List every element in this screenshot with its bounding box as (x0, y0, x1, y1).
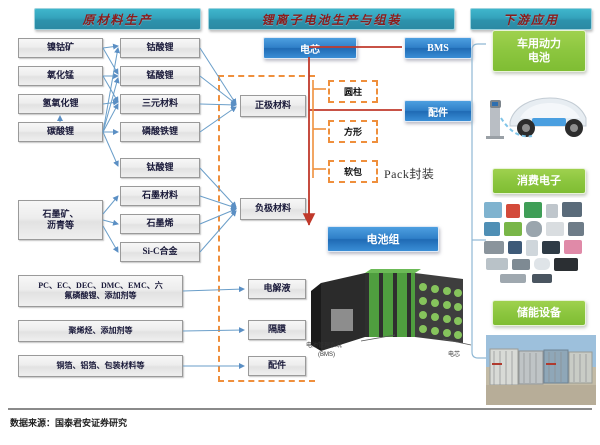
consumer-electronics-photo (480, 198, 598, 286)
box-label: 镍钴矿 (47, 42, 74, 53)
footer-divider (8, 408, 592, 410)
box-label: 车用动力 电池 (517, 37, 561, 66)
cell-format-box-cylindrical: 圆柱 (328, 80, 378, 103)
application-box-energy-storage: 储能设备 (492, 300, 586, 326)
pack-assembly-label: Pack封装 (384, 165, 434, 182)
diagram-canvas: 原材料生产 锂离子电池生产与组装 下游应用 镍钴矿 氧化锰 氢氧化锂 碳酸锂 石… (0, 0, 600, 445)
section-banner-cell-production: 锂离子电池生产与组装 (208, 8, 455, 30)
material-box-lithium-titanate: 钛酸锂 (120, 158, 200, 178)
material-box-si-c-alloy: Si-C合金 (120, 242, 200, 262)
box-label: 方形 (344, 125, 362, 138)
box-label: 石墨材料 (142, 190, 178, 201)
cell-format-box-prismatic: 方形 (328, 120, 378, 143)
box-label: 氢氧化锂 (42, 98, 78, 109)
process-box-accessories: 配件 (404, 100, 472, 122)
box-label: 储能设备 (517, 306, 561, 320)
box-label: 负极材料 (255, 203, 291, 214)
box-label: 电池组 (367, 231, 400, 247)
material-box-lithium-hydroxide: 氢氧化锂 (18, 94, 103, 114)
material-box-lithium-cobalt-oxide: 钴酸锂 (120, 38, 200, 58)
material-box-electrolyte-chemicals: PC、EC、DEC、DMC、EMC、六 氟磷酸锂、添加剂等 (18, 275, 183, 307)
box-label: 配件 (428, 104, 448, 119)
material-box-lithium-carbonate: 碳酸锂 (18, 122, 103, 142)
material-box-foil-packaging: 铜箔、铝箔、包装材料等 (18, 355, 183, 377)
cell-format-box-pouch: 软包 (328, 160, 378, 183)
material-box-graphene: 石墨烯 (120, 214, 200, 234)
box-label: 正极材料 (255, 100, 291, 111)
banner-label: 下游应用 (503, 11, 559, 28)
box-label: BMS (427, 43, 449, 54)
box-label: 锰酸锂 (146, 70, 173, 81)
box-label: 电芯 (300, 41, 320, 56)
component-box-separator: 隔膜 (248, 320, 306, 340)
material-box-lithium-manganate: 锰酸锂 (120, 66, 200, 86)
box-label: 磷酸铁锂 (142, 126, 178, 137)
component-box-electrolyte: 电解液 (248, 279, 306, 299)
source-note: 数据来源：国泰君安证券研究 (10, 416, 127, 429)
box-label: 石墨烯 (146, 218, 173, 229)
box-label: 软包 (344, 165, 362, 178)
energy-storage-photo (486, 335, 596, 405)
material-box-nickel-cobalt-ore: 镍钴矿 (18, 38, 103, 58)
material-box-graphite-material: 石墨材料 (120, 186, 200, 206)
process-box-cell: 电芯 (263, 37, 357, 59)
banner-label: 原材料生产 (82, 11, 152, 28)
process-box-bms: BMS (404, 37, 472, 59)
banner-label: 锂离子电池生产与组装 (261, 11, 401, 28)
application-box-consumer-electronics: 消费电子 (492, 168, 586, 194)
material-box-ternary-material: 三元材料 (120, 94, 200, 114)
section-banner-raw-materials: 原材料生产 (34, 8, 201, 30)
box-label: 钴酸锂 (146, 42, 173, 53)
pack-photo-label-bms-system: 电池管理系统 (306, 340, 342, 349)
box-label: 消费电子 (517, 174, 561, 188)
box-label: 配件 (268, 360, 286, 371)
component-box-accessory: 配件 (248, 356, 306, 376)
component-box-cathode-material: 正极材料 (240, 95, 306, 117)
material-box-polyolefin-additives: 聚烯烃、添加剂等 (18, 320, 183, 342)
material-box-lithium-iron-phosphate: 磷酸铁锂 (120, 122, 200, 142)
box-label: 三元材料 (142, 98, 178, 109)
pack-photo-label-bms-abbr: (BMS) (318, 352, 335, 358)
box-label: 圆柱 (344, 85, 362, 98)
component-box-anode-material: 负极材料 (240, 198, 306, 220)
box-label: 隔膜 (268, 324, 286, 335)
box-label: 氧化锰 (47, 70, 74, 81)
application-box-ev-power-battery: 车用动力 电池 (492, 30, 586, 72)
process-box-battery-pack: 电池组 (327, 226, 439, 252)
section-banner-downstream: 下游应用 (470, 8, 592, 30)
material-box-graphite-ore-pitch: 石墨矿、 沥青等 (18, 200, 103, 240)
ev-car-photo (480, 78, 595, 150)
pack-photo-label-cell: 电芯 (448, 349, 460, 358)
box-label: 碳酸锂 (47, 126, 74, 137)
box-label: 铜箔、铝箔、包装材料等 (57, 361, 145, 371)
box-label: Si-C合金 (142, 246, 177, 257)
box-label: 聚烯烃、添加剂等 (69, 326, 133, 336)
box-label: 石墨矿、 沥青等 (42, 209, 78, 232)
material-box-manganese-oxide: 氧化锰 (18, 66, 103, 86)
box-label: PC、EC、DEC、DMC、EMC、六 氟磷酸锂、添加剂等 (38, 281, 162, 301)
box-label: 电解液 (263, 283, 290, 294)
box-label: 钛酸锂 (146, 162, 173, 173)
